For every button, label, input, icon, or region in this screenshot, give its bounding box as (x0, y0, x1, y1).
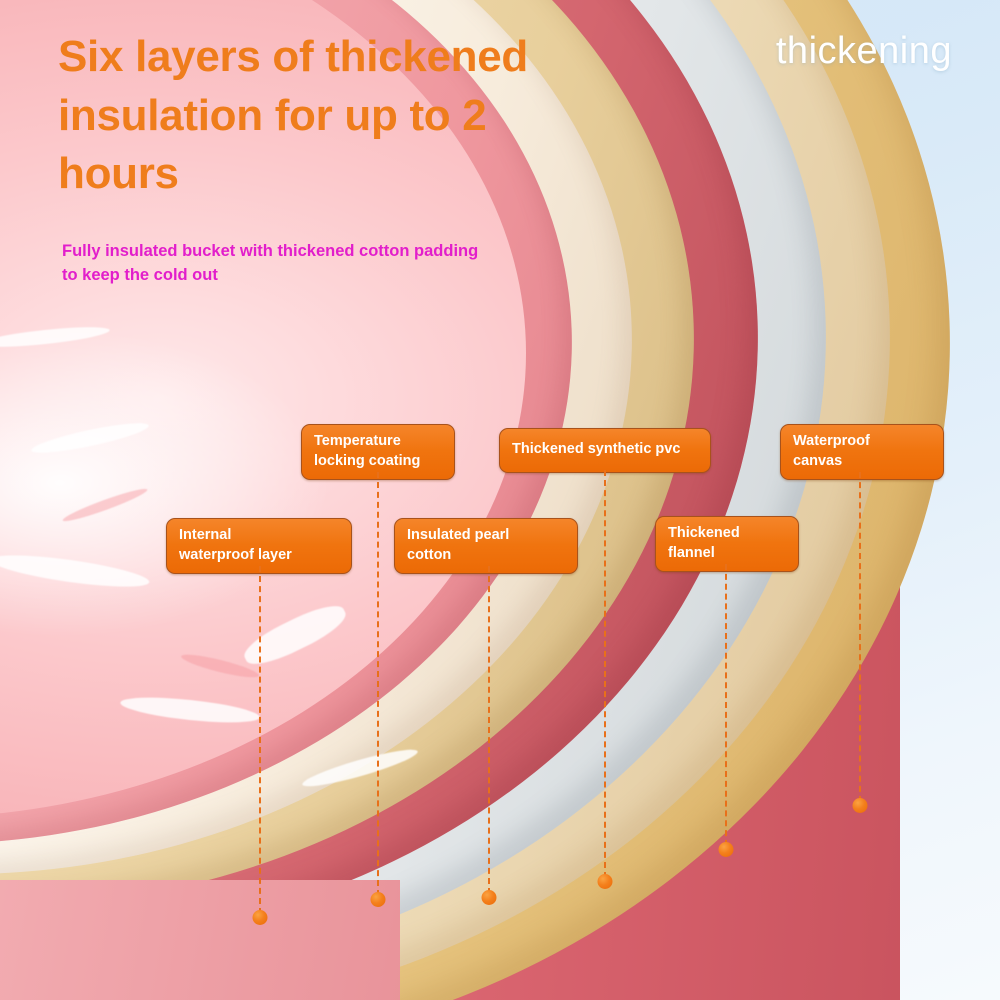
leader-line-waterproof-canvas (859, 472, 861, 802)
badge-thickened-flannel[interactable]: Thickened flannel (655, 516, 799, 572)
leader-dot-thickened-synthetic-pvc (598, 874, 613, 889)
badge-line-1: Temperature (314, 432, 442, 452)
badge-line-1: Thickened synthetic pvc (512, 440, 698, 460)
badge-line-1: Thickened (668, 524, 786, 544)
leader-dot-waterproof-canvas (853, 798, 868, 813)
leader-dot-insulated-pearl-cotton (482, 890, 497, 905)
layer-inner-wall (0, 880, 400, 1000)
page-headline: Six layers of thickened insulation for u… (58, 28, 618, 204)
badge-line-1: Insulated pearl (407, 526, 565, 546)
badge-thickened-synthetic-pvc[interactable]: Thickened synthetic pvc (499, 428, 711, 473)
leader-line-thickened-flannel (725, 564, 727, 846)
leader-dot-thickened-flannel (719, 842, 734, 857)
leader-line-internal-waterproof-layer (259, 566, 261, 914)
badge-line-2: locking coating (314, 452, 442, 472)
badge-line-2: flannel (668, 544, 786, 564)
leader-dot-internal-waterproof-layer (253, 910, 268, 925)
leader-line-thickened-synthetic-pvc (604, 470, 606, 878)
leader-dot-temperature-locking-coating (371, 892, 386, 907)
thickening-word: thickening (776, 30, 952, 73)
badge-insulated-pearl-cotton[interactable]: Insulated pearl cotton (394, 518, 578, 574)
leader-line-temperature-locking-coating (377, 472, 379, 896)
product-infographic: Six layers of thickened insulation for u… (0, 0, 1000, 1000)
leader-line-insulated-pearl-cotton (488, 566, 490, 894)
badge-line-2: waterproof layer (179, 546, 339, 566)
badge-line-2: cotton (407, 546, 565, 566)
badge-line-1: Internal (179, 526, 339, 546)
badge-waterproof-canvas[interactable]: Waterproof canvas (780, 424, 944, 480)
page-subtitle: Fully insulated bucket with thickened co… (62, 240, 482, 288)
badge-line-1: Waterproof (793, 432, 931, 452)
badge-line-2: canvas (793, 452, 931, 472)
